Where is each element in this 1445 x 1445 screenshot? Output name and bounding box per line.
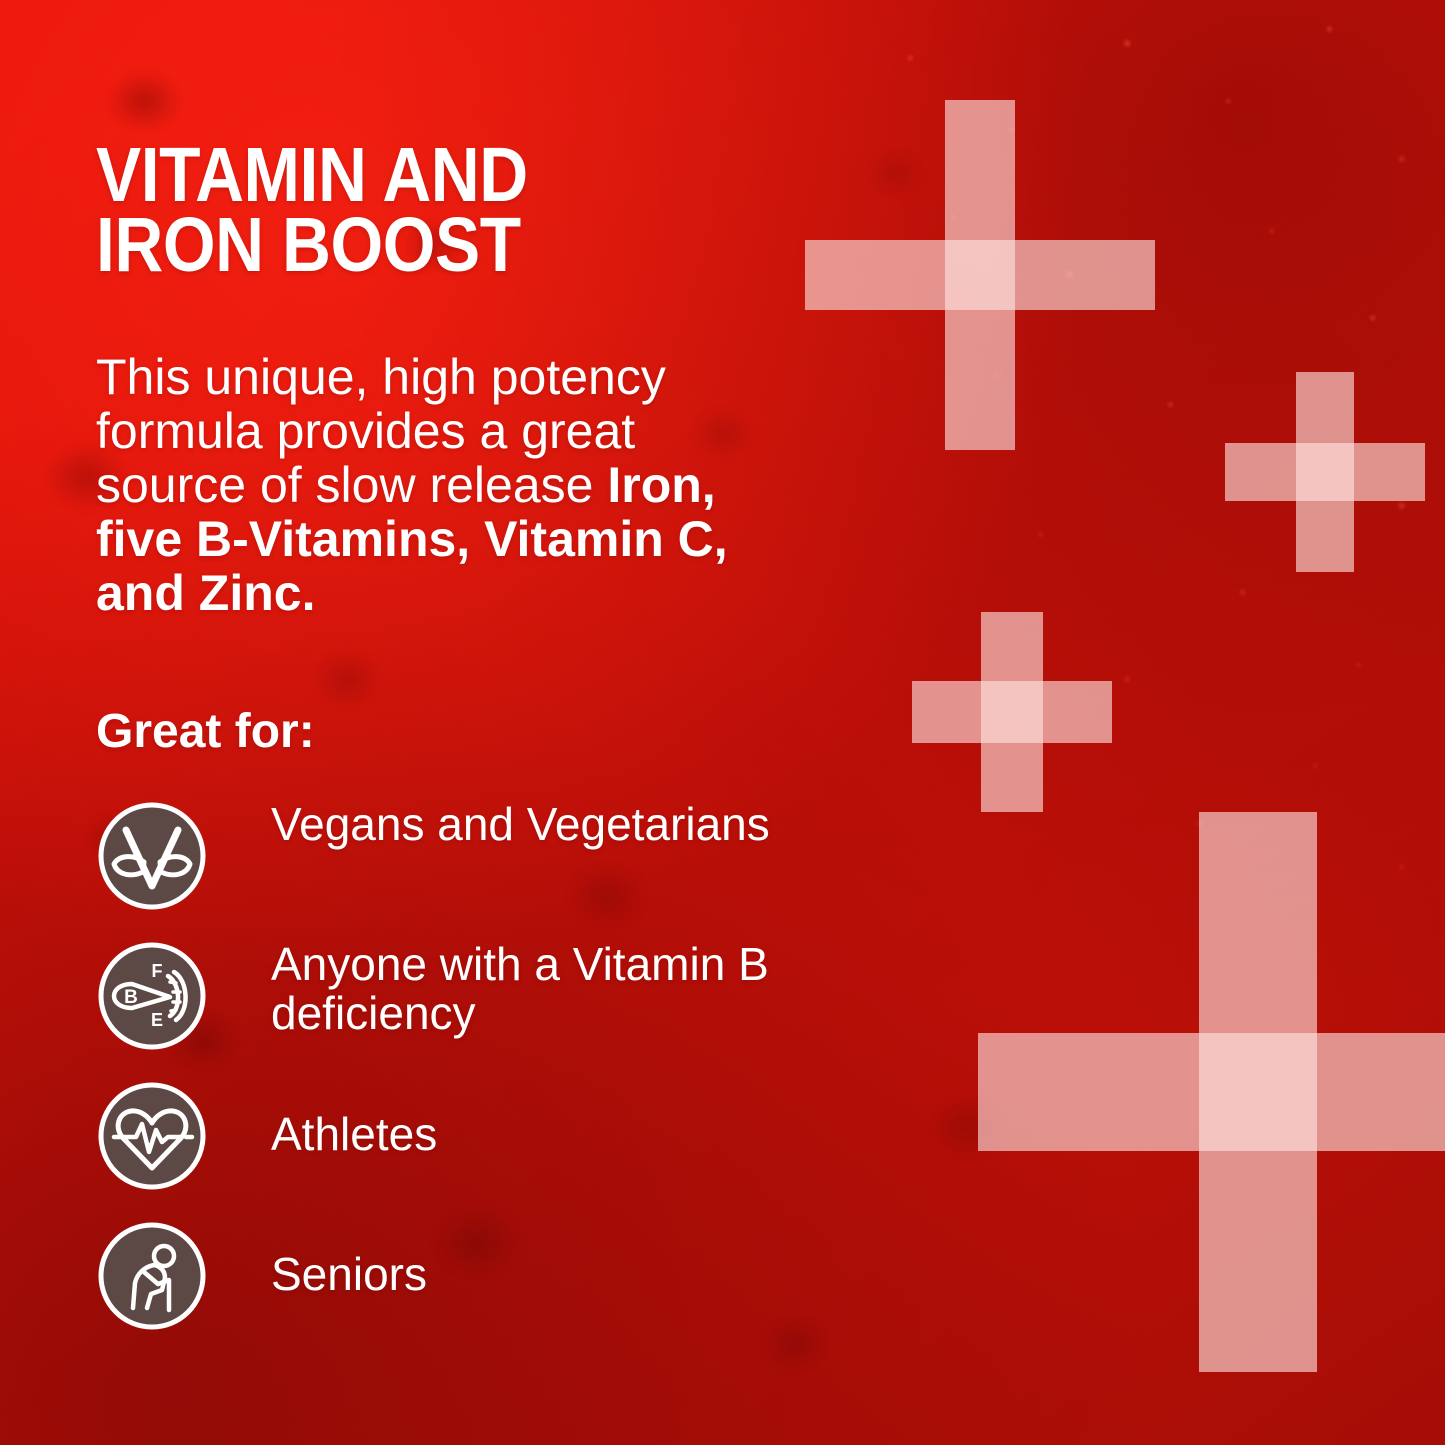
product-description: This unique, high potency formula provid…: [96, 350, 756, 620]
list-item-label: Anyone with a Vitamin B deficiency: [271, 940, 891, 1038]
list-item: Vegans and Vegetarians: [96, 800, 886, 940]
svg-text:E: E: [151, 1010, 163, 1030]
vitamin-iron-boost-poster: VITAMIN AND IRON BOOST This unique, high…: [0, 0, 1445, 1445]
great-for-heading: Great for:: [96, 708, 315, 756]
great-for-list: Vegans and Vegetarians B F E Anyone: [96, 800, 886, 1360]
description-regular-text: This unique, high potency formula provid…: [96, 349, 666, 513]
heart-heartbeat-icon: [96, 1080, 208, 1192]
senior-with-cane-icon: [96, 1220, 208, 1332]
svg-text:F: F: [152, 961, 163, 981]
b-vitamin-fuel-gauge-icon: B F E: [96, 940, 208, 1052]
list-item-label: Seniors: [271, 1250, 891, 1299]
list-item: Athletes: [96, 1080, 886, 1220]
vegan-leaf-v-icon: [96, 800, 208, 912]
list-item-label: Vegans and Vegetarians: [271, 800, 891, 849]
list-item: B F E Anyone with a Vitamin B deficiency: [96, 940, 886, 1080]
page-title: VITAMIN AND IRON BOOST: [96, 140, 712, 282]
headline-line-2: IRON BOOST: [96, 210, 712, 281]
list-item: Seniors: [96, 1220, 886, 1360]
svg-text:B: B: [124, 987, 138, 1008]
list-item-label: Athletes: [271, 1110, 891, 1159]
